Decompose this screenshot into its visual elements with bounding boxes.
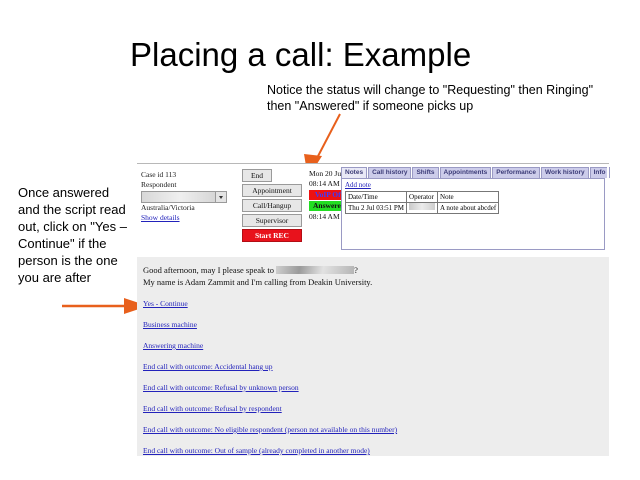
callout-continue-note: Once answered and the script read out, c… bbox=[18, 184, 130, 286]
cell-operator bbox=[407, 203, 438, 214]
callout-status-note: Notice the status will change to "Reques… bbox=[267, 82, 607, 114]
operator-redaction bbox=[409, 203, 435, 210]
option-business-machine[interactable]: Business machine bbox=[143, 320, 397, 329]
tab-performance[interactable]: Performance bbox=[492, 167, 540, 178]
app-screenshot: Case id 113 Respondent Australia/Victori… bbox=[137, 163, 609, 455]
script-line-1-after: ? bbox=[354, 265, 358, 275]
tab-panel: Notes Call history Shifts Appointments P… bbox=[341, 167, 605, 252]
case-id-label: Case id bbox=[141, 170, 163, 179]
column-note: Note bbox=[438, 192, 499, 203]
action-button-column: End Appointment Call/Hangup Supervisor S… bbox=[242, 169, 304, 244]
option-yes-continue[interactable]: Yes - Continue bbox=[143, 299, 397, 308]
call-hangup-button[interactable]: Call/Hangup bbox=[242, 199, 302, 212]
slide: Placing a call: Example Notice the statu… bbox=[0, 0, 640, 480]
panel-edge bbox=[607, 164, 609, 256]
tab-work-history[interactable]: Work history bbox=[541, 167, 589, 178]
script-area: Good afternoon, may I please speak to ? … bbox=[137, 256, 609, 456]
tab-shifts[interactable]: Shifts bbox=[412, 167, 438, 178]
supervisor-button[interactable]: Supervisor bbox=[242, 214, 302, 227]
table-header-row: Date/Time Operator Note bbox=[346, 192, 499, 203]
option-refusal-respondent[interactable]: End call with outcome: Refusal by respon… bbox=[143, 404, 397, 413]
case-id-row: Case id 113 bbox=[141, 170, 233, 180]
table-row: Thu 2 Jul 03:51 PM A note about abcdef bbox=[346, 203, 499, 214]
notes-tab-body: Add note Date/Time Operator Note Thu 2 J… bbox=[341, 178, 605, 250]
tab-notes[interactable]: Notes bbox=[341, 167, 367, 178]
option-accidental-hangup[interactable]: End call with outcome: Accidental hang u… bbox=[143, 362, 397, 371]
case-info-block: Case id 113 Respondent Australia/Victori… bbox=[141, 170, 233, 223]
case-id-value: 113 bbox=[165, 170, 176, 179]
outcome-option-list: Yes - Continue Business machine Answerin… bbox=[143, 299, 397, 467]
show-details-link[interactable]: Show details bbox=[141, 213, 233, 223]
option-answering-machine[interactable]: Answering machine bbox=[143, 341, 397, 350]
column-datetime: Date/Time bbox=[346, 192, 407, 203]
cell-note: A note about abcdef bbox=[438, 203, 499, 214]
tab-bar: Notes Call history Shifts Appointments P… bbox=[341, 167, 605, 178]
respondent-name-redaction bbox=[276, 266, 354, 274]
script-line-1: Good afternoon, may I please speak to ? bbox=[143, 264, 372, 276]
respondent-label: Respondent bbox=[141, 180, 233, 190]
tab-appointments[interactable]: Appointments bbox=[440, 167, 492, 178]
option-out-of-sample[interactable]: End call with outcome: Out of sample (al… bbox=[143, 446, 397, 455]
add-note-link[interactable]: Add note bbox=[345, 181, 601, 189]
column-operator: Operator bbox=[407, 192, 438, 203]
page-title: Placing a call: Example bbox=[130, 36, 471, 74]
appointment-button[interactable]: Appointment bbox=[242, 184, 302, 197]
script-text: Good afternoon, may I please speak to ? … bbox=[143, 264, 372, 288]
option-refusal-unknown-person[interactable]: End call with outcome: Refusal by unknow… bbox=[143, 383, 397, 392]
notes-table: Date/Time Operator Note Thu 2 Jul 03:51 … bbox=[345, 191, 499, 214]
app-header-area: Case id 113 Respondent Australia/Victori… bbox=[137, 163, 609, 256]
respondent-select[interactable] bbox=[141, 191, 227, 203]
chevron-down-icon bbox=[215, 192, 226, 202]
tab-call-history[interactable]: Call history bbox=[368, 167, 411, 178]
option-no-eligible-respondent[interactable]: End call with outcome: No eligible respo… bbox=[143, 425, 397, 434]
script-line-1-before: Good afternoon, may I please speak to bbox=[143, 265, 276, 275]
start-rec-button[interactable]: Start REC bbox=[242, 229, 302, 242]
timezone-text: Australia/Victoria bbox=[141, 203, 233, 213]
script-line-2: My name is Adam Zammit and I'm calling f… bbox=[143, 276, 372, 288]
end-button[interactable]: End bbox=[242, 169, 272, 182]
cell-datetime: Thu 2 Jul 03:51 PM bbox=[346, 203, 407, 214]
